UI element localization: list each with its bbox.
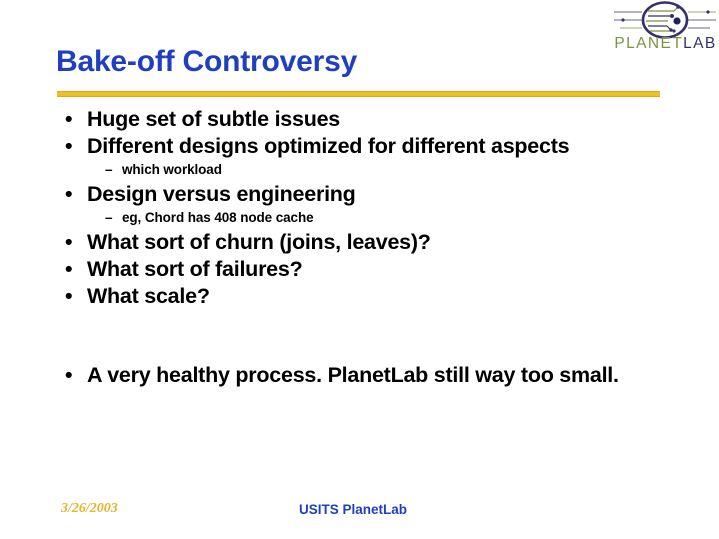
sub-bullet-item: – which workload <box>56 160 676 179</box>
bullet-marker: • <box>65 181 72 207</box>
bullet-text: Huge set of subtle issues <box>87 107 340 131</box>
logo-word-lab: LAB <box>683 35 717 52</box>
body-spacer <box>56 310 676 362</box>
bullet-marker: • <box>65 229 72 255</box>
slide-title: Bake-off Controversy <box>56 45 357 79</box>
presentation-slide: PLANETLAB Bake-off Controversy • Huge se… <box>0 0 719 539</box>
bullet-text: What sort of churn (joins, leaves)? <box>87 230 431 254</box>
planetlab-wordmark: PLANETLAB <box>612 35 719 53</box>
bullet-item: • Different designs optimized for differ… <box>56 133 676 159</box>
title-divider <box>57 91 660 97</box>
footer-center-text: USITS PlanetLab <box>299 502 407 517</box>
sub-bullet-item: – eg, Chord has 408 node cache <box>56 208 676 227</box>
sub-bullet-marker: – <box>105 160 112 179</box>
bullet-text: What scale? <box>87 284 210 308</box>
bullet-text: A very healthy process. PlanetLab still … <box>87 363 619 387</box>
bullet-text: Different designs optimized for differen… <box>87 134 569 158</box>
bullet-item: • Huge set of subtle issues <box>56 106 676 132</box>
bullet-marker: • <box>65 133 72 159</box>
bullet-marker: • <box>65 283 72 309</box>
planetlab-logo: PLANETLAB <box>612 1 719 57</box>
bullet-item: • A very healthy process. PlanetLab stil… <box>56 362 676 388</box>
sub-bullet-marker: – <box>105 208 112 227</box>
slide-body: • Huge set of subtle issues • Different … <box>56 106 676 389</box>
sub-bullet-text: eg, Chord has 408 node cache <box>122 210 314 225</box>
logo-word-planet: PLANET <box>614 35 683 52</box>
sub-bullet-text: which workload <box>122 162 222 177</box>
bullet-marker: • <box>65 362 72 388</box>
bullet-marker: • <box>65 256 72 282</box>
bullet-marker: • <box>65 106 72 132</box>
bullet-item: • What scale? <box>56 283 676 309</box>
bullet-item: • What sort of churn (joins, leaves)? <box>56 229 676 255</box>
bullet-item: • Design versus engineering <box>56 181 676 207</box>
bullet-item: • What sort of failures? <box>56 256 676 282</box>
planetlab-globe-icon <box>612 1 719 39</box>
bullet-text: What sort of failures? <box>87 257 302 281</box>
footer-date: 3/26/2003 <box>61 501 118 517</box>
bullet-text: Design versus engineering <box>87 182 356 206</box>
